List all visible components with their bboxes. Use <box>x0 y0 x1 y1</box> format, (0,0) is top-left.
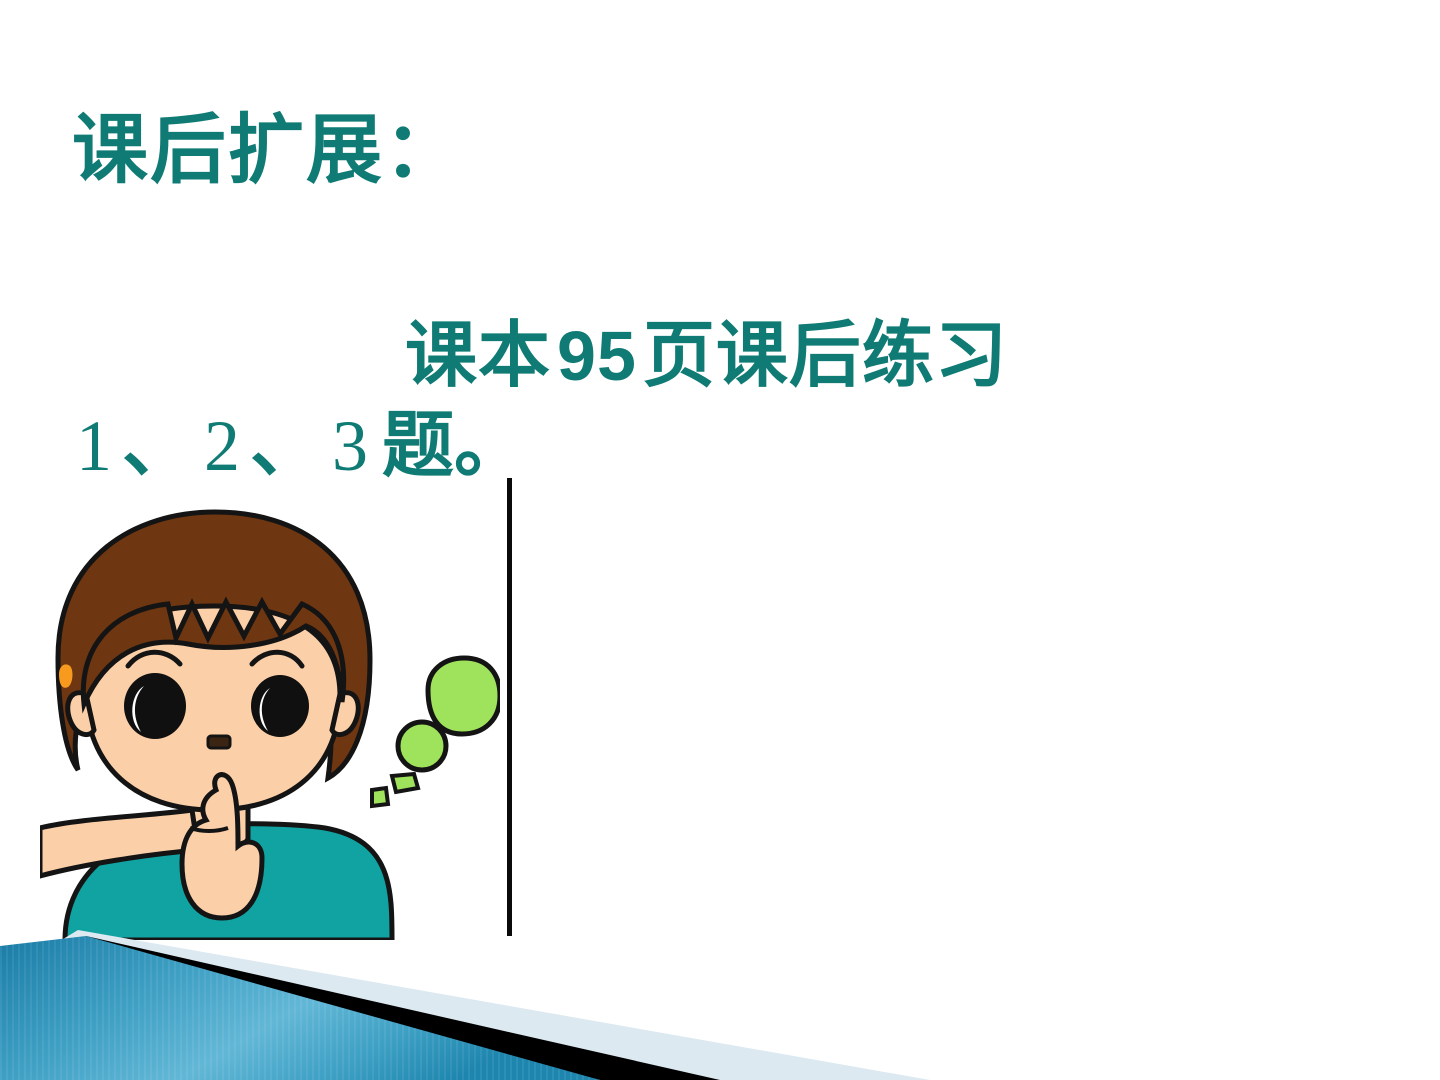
body-text-tail: 题。 <box>372 406 526 486</box>
body-text-suffix: 页课后练习 <box>643 316 1008 396</box>
question-number-2: 2 <box>200 406 244 486</box>
bubble-tiny-icon <box>372 788 388 806</box>
bubble-large-icon <box>428 658 500 734</box>
thinking-boy-illustration <box>40 498 500 940</box>
thought-bubbles-group <box>372 658 500 806</box>
question-number-1: 1 <box>72 406 116 486</box>
list-separator-1: 、 <box>116 406 200 486</box>
boy-body-group <box>40 512 392 940</box>
bottom-diagonal-banner <box>0 930 1440 1080</box>
page-number-value: 95 <box>551 317 643 395</box>
bubble-medium-icon <box>398 722 446 770</box>
eye-right <box>251 675 309 737</box>
bubble-small-icon <box>392 774 418 792</box>
vertical-divider-line <box>507 478 512 936</box>
page-title: 课后扩展： <box>72 112 462 192</box>
body-line-secondary: 1、2、3题。 <box>72 408 526 486</box>
body-line-primary: 课本95页课后练习 <box>405 318 1008 396</box>
question-number-3: 3 <box>328 406 372 486</box>
slide-canvas: 课后扩展： 课本95页课后练习 1、2、3题。 <box>0 0 1440 1080</box>
mouth-shape <box>208 736 230 748</box>
body-text-prefix: 课本 <box>405 316 551 396</box>
list-separator-2: 、 <box>244 406 328 486</box>
